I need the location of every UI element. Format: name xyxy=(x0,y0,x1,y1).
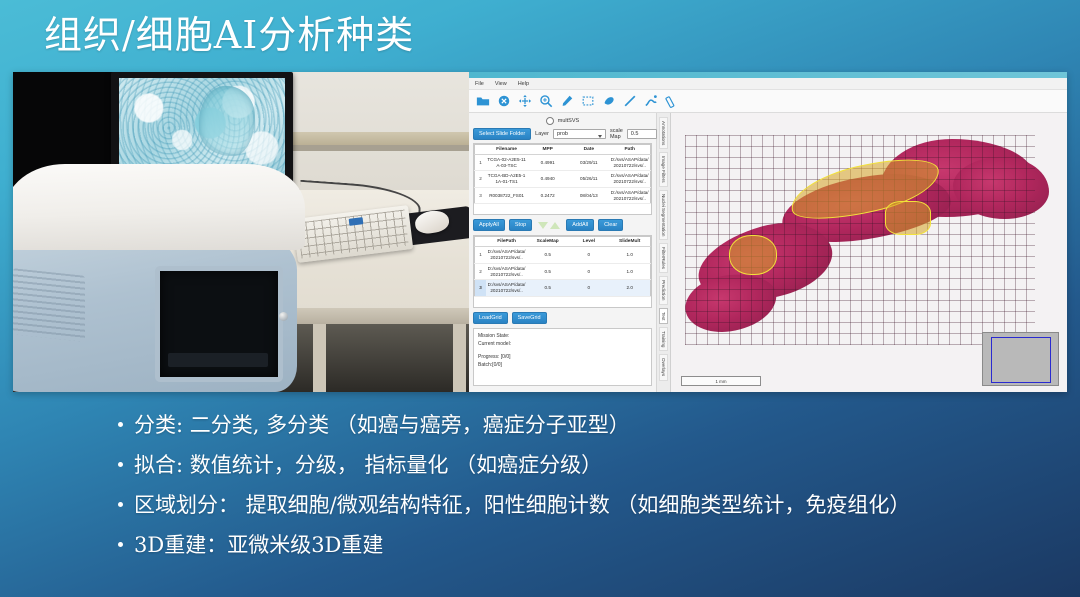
apply-all-button[interactable]: ApplyAll xyxy=(473,219,505,231)
bullet-text: 分类: 二分类, 多分类 （如癌与癌旁，癌症分子亚型） xyxy=(134,412,630,439)
scanner-lid xyxy=(13,164,305,250)
tab-image-filters[interactable]: Image Filters xyxy=(659,152,668,187)
cell-level: 0 xyxy=(568,247,609,263)
cell-path: D:/svs/ASAP/data/20210722/svs/.. xyxy=(609,187,650,203)
tab-training[interactable]: Training xyxy=(659,327,668,351)
slide-table-wrap: Filename MPP Date Path 1 TCGA-02-A2E5-11… xyxy=(473,143,652,215)
scale-map-input[interactable]: 0.5 xyxy=(627,129,657,139)
scanner-knob xyxy=(279,312,288,321)
col-path: Path xyxy=(609,145,650,155)
annotation-region xyxy=(729,235,777,275)
photo-desk-leg xyxy=(313,324,326,392)
microscopy-image xyxy=(119,78,285,178)
thumbnail-viewport-rect[interactable] xyxy=(991,337,1051,383)
slide-table[interactable]: Filename MPP Date Path 1 TCGA-02-A2E5-11… xyxy=(474,144,651,204)
col-filepath: FilePath xyxy=(486,237,527,247)
tab-nuclei-segmentation[interactable]: Nuclei Segmentation xyxy=(659,190,668,240)
bullet-dot-icon xyxy=(118,542,123,547)
cell-index: 1 xyxy=(475,247,487,263)
progress-label: Progress: [0/0] xyxy=(478,354,647,362)
tab-test[interactable]: Test xyxy=(659,308,668,324)
load-grid-button[interactable]: LoadGrid xyxy=(473,312,508,324)
cell-index: 3 xyxy=(475,280,487,296)
photo-desk-leg xyxy=(453,324,466,392)
cell-date: 03/29/11 xyxy=(568,155,609,171)
side-tab-strip: Annotations Image Filters Nuclei Segment… xyxy=(657,113,671,392)
cell-slidemult: 2.0 xyxy=(609,280,650,296)
col-date: Date xyxy=(568,145,609,155)
scanner-slide-slot xyxy=(168,353,268,367)
list-item: 拟合: 数值统计，分级， 指标量化 （如癌症分级） xyxy=(118,452,1060,479)
cell-scalemap: 0.5 xyxy=(527,280,568,296)
cell-date: 05/26/11 xyxy=(568,171,609,187)
scanner-vents xyxy=(13,268,85,342)
table-row[interactable]: 3 R0038722_FS01 0.2472 08/04/13 D:/svs/A… xyxy=(475,187,651,203)
arrow-up-icon[interactable] xyxy=(550,222,560,229)
grid-table-wrap: FilePath ScaleMap Level SlideMult 1 D:/s… xyxy=(473,235,652,307)
col-filename: Filename xyxy=(486,145,527,155)
spline-icon[interactable] xyxy=(643,94,658,109)
menu-view[interactable]: View xyxy=(495,81,507,87)
photo-wall-rail-shadow xyxy=(285,145,469,151)
photo-wall-rail xyxy=(285,132,469,145)
tab-filterrules[interactable]: FilterRules xyxy=(659,243,668,273)
media-band: File View Help xyxy=(13,72,1067,392)
annotation-region xyxy=(885,201,931,235)
close-circle-icon[interactable] xyxy=(496,94,511,109)
col-index xyxy=(475,145,487,155)
list-item: 3D重建：亚微米级3D重建 xyxy=(118,532,1060,559)
tab-prediction[interactable]: Prediction xyxy=(659,276,668,304)
cell-mpp: 0.4940 xyxy=(527,171,568,187)
line-icon[interactable] xyxy=(622,94,637,109)
cell-path: D:/svs/ASAP/data/20210722/svs/.. xyxy=(609,171,650,187)
reorder-arrows[interactable] xyxy=(538,222,560,229)
save-grid-button[interactable]: SaveGrid xyxy=(512,312,547,324)
control-pane: multSVS Select Slide Folder Layer prob s… xyxy=(469,113,657,392)
table-row[interactable]: 1 TCGA-02-A2E5-11A-03-TSC 0.4991 03/29/1… xyxy=(475,155,651,171)
cell-slidemult: 1.0 xyxy=(609,247,650,263)
current-model-label: Current model: xyxy=(478,341,647,349)
cell-filepath: D:/svs/ASAP/data/20210722/svs/.. xyxy=(486,263,527,279)
open-folder-icon[interactable] xyxy=(475,94,490,109)
layer-label: Layer xyxy=(535,131,549,137)
cell-slidemult: 1.0 xyxy=(609,263,650,279)
pathology-software-screenshot: File View Help xyxy=(469,72,1067,392)
arrow-down-icon[interactable] xyxy=(538,222,548,229)
ruler-icon[interactable] xyxy=(664,94,679,109)
stop-button[interactable]: Stop xyxy=(509,219,532,231)
app-menubar: File View Help xyxy=(469,78,1067,90)
scale-bar: 1 mm xyxy=(681,376,761,386)
select-slide-folder-button[interactable]: Select Slide Folder xyxy=(473,128,531,140)
rect-select-icon[interactable] xyxy=(580,94,595,109)
photo-keyboard-keys xyxy=(297,210,409,259)
bullet-text: 区域划分： 提取细胞/微观结构特征，阳性细胞计数 （如细胞类型统计，免疫组化） xyxy=(134,492,910,519)
menu-file[interactable]: File xyxy=(475,81,484,87)
polygon-icon[interactable] xyxy=(601,94,616,109)
slide-scanner-device xyxy=(13,164,305,392)
cell-index: 1 xyxy=(475,155,487,171)
tissue-whole-slide-image xyxy=(685,135,1035,345)
zoom-icon[interactable] xyxy=(538,94,553,109)
col-level: Level xyxy=(568,237,609,247)
cell-date: 08/04/13 xyxy=(568,187,609,203)
col-mpp: MPP xyxy=(527,145,568,155)
add-all-button[interactable]: AddAll xyxy=(566,219,594,231)
scanner-front-panel xyxy=(155,266,283,382)
cell-index: 2 xyxy=(475,263,487,279)
tab-overlays[interactable]: Overlays xyxy=(659,354,668,380)
multsvs-radio[interactable] xyxy=(546,117,554,125)
cell-filename: TCGA-02-A2E5-11A-03-TSC xyxy=(486,155,527,171)
cell-filename: TCGA-BD-A2E5-11A-01-TS1 xyxy=(486,171,527,187)
bullet-dot-icon xyxy=(118,422,123,427)
bullet-text: 3D重建：亚微米级3D重建 xyxy=(134,532,383,559)
tab-annotations[interactable]: Annotations xyxy=(659,117,668,149)
cell-index: 2 xyxy=(475,171,487,187)
cell-scalemap: 0.5 xyxy=(527,263,568,279)
clear-button[interactable]: Clear xyxy=(598,219,623,231)
scale-map-label: scale Map xyxy=(610,128,623,140)
cell-index: 3 xyxy=(475,187,487,203)
cell-filepath: D:/svs/ASAP/data/20210722/svs/.. xyxy=(486,247,527,263)
list-item: 区域划分： 提取细胞/微观结构特征，阳性细胞计数 （如细胞类型统计，免疫组化） xyxy=(118,492,1060,519)
table-header-row: FilePath ScaleMap Level SlideMult xyxy=(475,237,651,247)
table-row[interactable]: 2 D:/svs/ASAP/data/20210722/svs/.. 0.5 0… xyxy=(475,263,651,279)
grid-table-empty-space xyxy=(474,297,651,307)
col-scalemap: ScaleMap xyxy=(527,237,568,247)
cell-level: 0 xyxy=(568,263,609,279)
cell-filename: R0038722_FS01 xyxy=(486,187,527,203)
pointer-pen-icon[interactable] xyxy=(559,94,574,109)
col-slidemult: SlideMult xyxy=(609,237,650,247)
mid-button-row: ApplyAll Stop AddAll Clear xyxy=(473,219,652,231)
slide-table-empty-space xyxy=(474,204,651,214)
app-toolbar xyxy=(469,90,1067,113)
mission-state-label: Mission State: xyxy=(478,333,647,341)
page-title: 组织/细胞AI分析种类 xyxy=(44,4,414,59)
cell-scalemap: 0.5 xyxy=(527,247,568,263)
grid-table[interactable]: FilePath ScaleMap Level SlideMult 1 D:/s… xyxy=(474,236,651,296)
cell-path: D:/svs/ASAP/data/20210722/svs/.. xyxy=(609,155,650,171)
folder-row: Select Slide Folder Layer prob scale Map… xyxy=(473,128,652,140)
cell-level: 0 xyxy=(568,280,609,296)
table-row[interactable]: 1 D:/svs/ASAP/data/20210722/svs/.. 0.5 0… xyxy=(475,247,651,263)
cell-mpp: 0.2472 xyxy=(527,187,568,203)
table-header-row: Filename MPP Date Path xyxy=(475,145,651,155)
list-item: 分类: 二分类, 多分类 （如癌与癌旁，癌症分子亚型） xyxy=(118,412,1060,439)
app-body: multSVS Select Slide Folder Layer prob s… xyxy=(469,113,1067,392)
col-index xyxy=(475,237,487,247)
menu-help[interactable]: Help xyxy=(518,81,529,87)
pan-move-icon[interactable] xyxy=(517,94,532,109)
status-box: Mission State: Current model: Progress: … xyxy=(473,328,652,386)
layer-select[interactable]: prob xyxy=(553,129,606,139)
slide-viewer[interactable]: 1 mm xyxy=(671,113,1067,392)
bullet-dot-icon xyxy=(118,462,123,467)
table-row-selected[interactable]: 3 D:/svs/ASAP/data/20210722/svs/.. 0.5 0… xyxy=(475,280,651,296)
multsvs-row[interactable]: multSVS xyxy=(473,117,652,125)
cell-filepath: D:/svs/ASAP/data/20210722/svs/.. xyxy=(486,280,527,296)
photo-monitor-screen xyxy=(119,78,285,178)
slide-root: 组织/细胞AI分析种类 xyxy=(0,0,1080,597)
batch-label: Batch:[0/0] xyxy=(478,362,647,370)
cell-mpp: 0.4991 xyxy=(527,155,568,171)
bullet-dot-icon xyxy=(118,502,123,507)
multsvs-label: multSVS xyxy=(558,118,579,124)
thumbnail-navigator[interactable] xyxy=(982,332,1059,386)
bottom-button-row: LoadGrid SaveGrid xyxy=(473,312,652,324)
bullet-list: 分类: 二分类, 多分类 （如癌与癌旁，癌症分子亚型） 拟合: 数值统计，分级，… xyxy=(118,412,1060,572)
table-row[interactable]: 2 TCGA-BD-A2E5-11A-01-TS1 0.4940 05/26/1… xyxy=(475,171,651,187)
lab-equipment-photo xyxy=(13,72,469,392)
bullet-text: 拟合: 数值统计，分级， 指标量化 （如癌症分级） xyxy=(134,452,602,479)
